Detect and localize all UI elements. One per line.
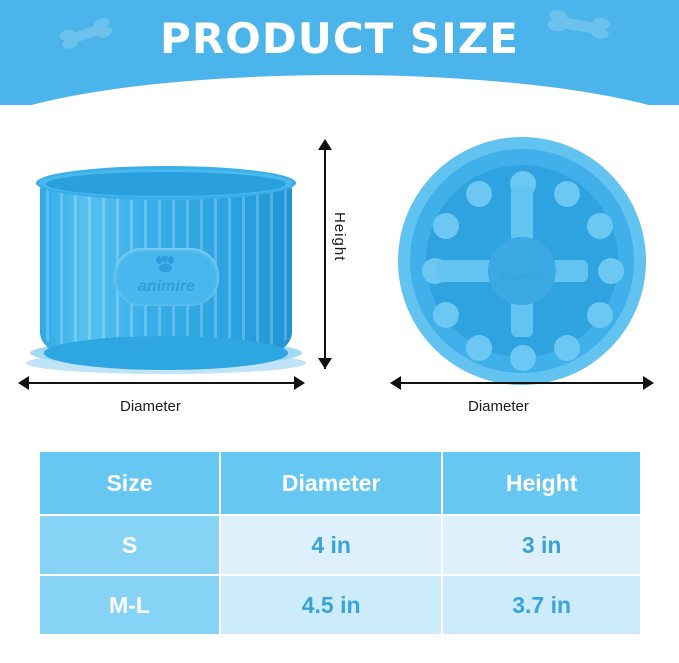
height-label: Height bbox=[331, 212, 348, 261]
nub bbox=[587, 213, 613, 239]
header-banner: PRODUCT SIZE bbox=[0, 0, 679, 105]
nub bbox=[466, 335, 492, 361]
nub bbox=[598, 258, 624, 284]
page-title: PRODUCT SIZE bbox=[0, 14, 679, 63]
diameter-arrow-line-right bbox=[400, 382, 645, 384]
cup-top-view: animire bbox=[378, 127, 668, 397]
nub bbox=[433, 213, 459, 239]
brand-badge: animire bbox=[114, 248, 219, 306]
paw-icon bbox=[155, 256, 178, 272]
nub bbox=[587, 302, 613, 328]
cup-side-view: animire bbox=[18, 140, 318, 390]
cup-base bbox=[44, 336, 288, 370]
product-illustration-area: animire Height Diameter animire Diameter bbox=[0, 105, 679, 440]
table-header-height: Height bbox=[442, 451, 641, 515]
diameter-arrow-head-left-2 bbox=[390, 376, 401, 390]
cell-diameter-s: 4 in bbox=[220, 515, 442, 575]
nub bbox=[554, 335, 580, 361]
table-row: M-L 4.5 in 3.7 in bbox=[39, 575, 641, 635]
height-arrow-head-bottom bbox=[318, 358, 332, 369]
diameter-label-right: Diameter bbox=[468, 398, 529, 415]
top-view-brand-name: animire bbox=[474, 269, 570, 284]
nub bbox=[466, 181, 492, 207]
cell-size-ml: M-L bbox=[39, 575, 220, 635]
size-table: Size Diameter Height S 4 in 3 in M-L 4.5… bbox=[38, 450, 642, 636]
nub bbox=[510, 345, 536, 371]
cell-size-s: S bbox=[39, 515, 220, 575]
height-arrow-head-top bbox=[318, 139, 332, 150]
table-header-size: Size bbox=[39, 451, 220, 515]
diameter-arrow-head-left bbox=[18, 376, 29, 390]
height-arrow-line bbox=[324, 147, 326, 369]
cup-rim-inner bbox=[46, 172, 286, 196]
diameter-arrow-head-right-2 bbox=[643, 376, 654, 390]
table-row: S 4 in 3 in bbox=[39, 515, 641, 575]
diameter-arrow-head-right bbox=[294, 376, 305, 390]
table-header-row: Size Diameter Height bbox=[39, 451, 641, 515]
cell-height-ml: 3.7 in bbox=[442, 575, 641, 635]
nub bbox=[433, 302, 459, 328]
cell-height-s: 3 in bbox=[442, 515, 641, 575]
brand-name: animire bbox=[114, 278, 219, 296]
diameter-label-left: Diameter bbox=[120, 398, 181, 415]
banner-bottom-curve bbox=[0, 75, 679, 105]
table-header-diameter: Diameter bbox=[220, 451, 442, 515]
cell-diameter-ml: 4.5 in bbox=[220, 575, 442, 635]
diameter-arrow-line-left bbox=[28, 382, 296, 384]
nub bbox=[554, 181, 580, 207]
